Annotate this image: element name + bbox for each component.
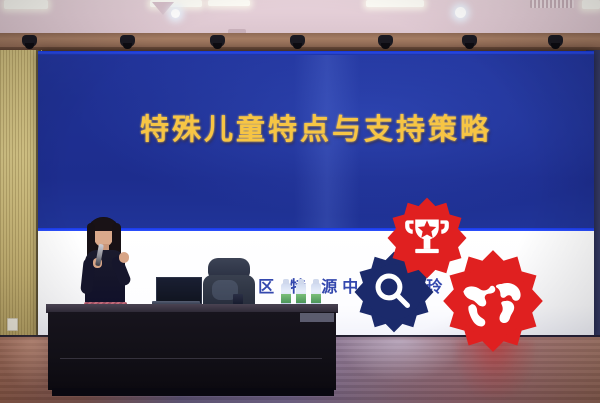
laptop-screen xyxy=(156,277,202,304)
podium-base xyxy=(52,388,334,396)
office-chair xyxy=(200,258,258,308)
presenter-hand-right xyxy=(119,252,129,263)
ceiling-downlight xyxy=(455,7,466,18)
ceiling-light-panel xyxy=(366,0,424,7)
screen-top-rim xyxy=(38,51,594,55)
spotlight xyxy=(290,35,305,47)
spotlight xyxy=(210,35,225,47)
laptop xyxy=(152,277,200,307)
lecture-hall-photo: 特殊儿童特点与支持策略 市 双流区 特 源中心 王 玲 xyxy=(0,0,600,403)
ceiling-light-panel xyxy=(582,0,600,9)
spotlight xyxy=(120,35,135,47)
spotlight xyxy=(378,35,393,47)
podium-panel-line xyxy=(60,358,322,359)
spotlight xyxy=(548,35,563,47)
ceiling xyxy=(0,0,600,34)
ceiling-light-panel xyxy=(4,0,48,9)
wall-switch-plate xyxy=(7,318,18,331)
podium-table-front xyxy=(48,312,336,390)
ceiling-light-panel xyxy=(208,0,250,6)
trophy-gear-graphic xyxy=(385,196,469,280)
ceiling-vent xyxy=(530,0,574,8)
trophy-icon xyxy=(385,196,469,280)
podium-edge-highlight xyxy=(300,313,334,322)
ceiling-downlight xyxy=(171,9,180,18)
spotlight xyxy=(462,35,477,47)
slide-title: 特殊儿童特点与支持策略 xyxy=(38,106,594,148)
floor-reflection-left xyxy=(0,338,52,388)
spotlight xyxy=(22,35,37,47)
